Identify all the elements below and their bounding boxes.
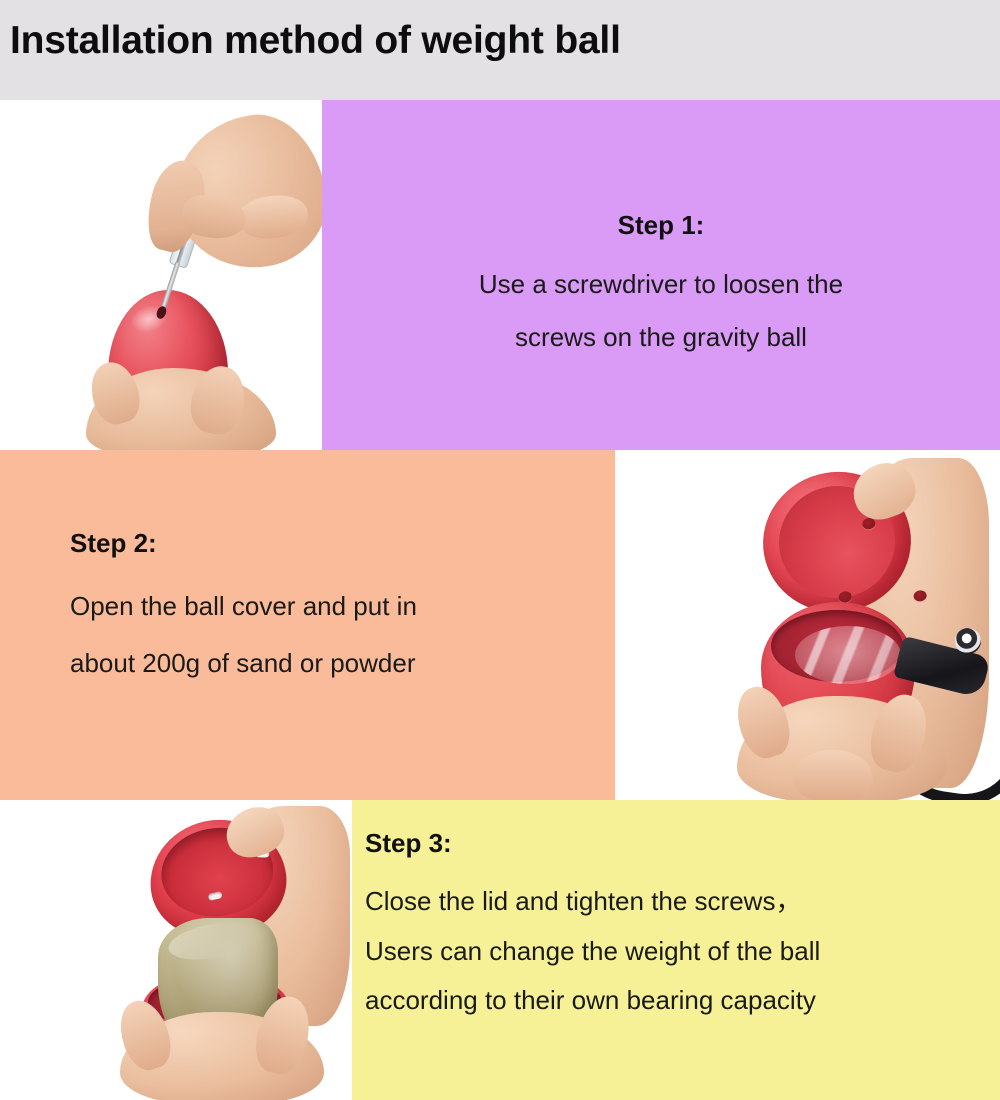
- step-3-line-1: Close the lid and tighten the screws，: [365, 881, 1000, 918]
- page-title: Installation method of weight ball: [10, 19, 621, 63]
- step-2-title: Step 2:: [70, 528, 610, 559]
- screw-slot: [208, 891, 223, 901]
- step-1-line-1: Use a screwdriver to loosen the: [322, 269, 1000, 300]
- step-3-title: Step 3:: [365, 828, 1000, 859]
- step-3-line-3: according to their own bearing capacity: [365, 985, 1000, 1016]
- step-1-photo: [0, 100, 322, 450]
- bowl-rim: [771, 610, 903, 682]
- step-2-text-panel: Step 2: Open the ball cover and put in a…: [0, 450, 615, 800]
- step-3-text-block: Step 3: Close the lid and tighten the sc…: [365, 828, 1000, 1034]
- step-2-line-1: Open the ball cover and put in: [70, 591, 610, 622]
- weight-ball-installation-infographic: Installation method of weight ball Step …: [0, 0, 1000, 1100]
- supporting-finger: [793, 750, 873, 800]
- step-2-text-block: Step 2: Open the ball cover and put in a…: [70, 528, 610, 705]
- clear-plastic-wrap: [795, 626, 901, 684]
- step-1-text-panel: Step 1: Use a screwdriver to loosen the …: [322, 100, 1000, 450]
- step-2-photo: [615, 450, 1000, 800]
- step-1-line-2: screws on the gravity ball: [322, 322, 1000, 353]
- step-3-line-2: Users can change the weight of the ball: [365, 936, 1000, 967]
- step-1-title: Step 1:: [322, 210, 1000, 241]
- step-3-text-panel: Step 3: Close the lid and tighten the sc…: [352, 800, 1000, 1100]
- header-bar: Installation method of weight ball: [0, 0, 1000, 100]
- step-3-photo: [0, 800, 352, 1100]
- step-2-line-2: about 200g of sand or powder: [70, 648, 610, 679]
- strap-grommet: [955, 628, 981, 654]
- step-1-text-block: Step 1: Use a screwdriver to loosen the …: [322, 210, 1000, 375]
